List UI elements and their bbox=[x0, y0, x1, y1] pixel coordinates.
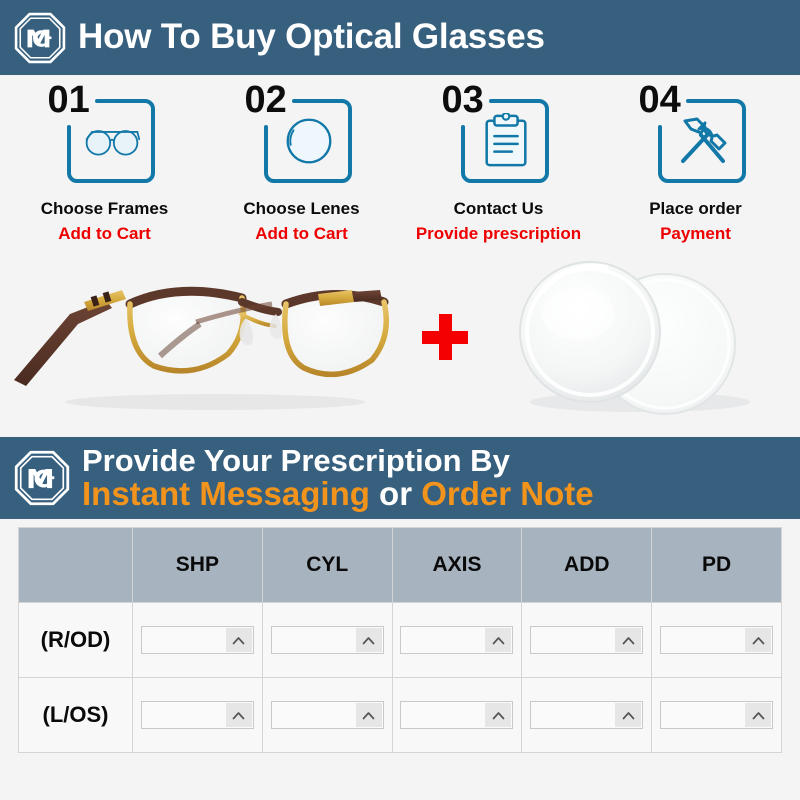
chevron-up-icon[interactable] bbox=[615, 703, 641, 727]
table-header-row: SHP CYL AXIS ADD PD bbox=[19, 528, 782, 603]
top-banner-title: How To Buy Optical Glasses bbox=[78, 19, 545, 56]
step-4-icon-wrap: 04 bbox=[644, 87, 748, 183]
top-banner: How To Buy Optical Glasses bbox=[0, 0, 800, 75]
select-right-pd[interactable] bbox=[660, 626, 773, 654]
select-left-pd[interactable] bbox=[660, 701, 773, 729]
brand-logo-icon-2 bbox=[14, 450, 70, 506]
clipboard-icon bbox=[477, 113, 535, 169]
table-row-right-eye: (R/OD) bbox=[19, 603, 782, 678]
eyeglasses-icon bbox=[83, 113, 141, 169]
eyeglasses-product-image bbox=[0, 252, 410, 427]
chevron-up-icon[interactable] bbox=[356, 703, 382, 727]
step-3: 03 Contact Us Provide prescription bbox=[400, 87, 597, 244]
cell-right-cyl bbox=[262, 603, 392, 678]
bottom-banner-text: Provide Your Prescription By Instant Mes… bbox=[82, 445, 594, 510]
step-3-number: 03 bbox=[439, 81, 487, 119]
header-pd: PD bbox=[652, 528, 782, 603]
step-4-number: 04 bbox=[636, 81, 684, 119]
chevron-up-icon[interactable] bbox=[485, 703, 511, 727]
bottom-banner-line2: Instant Messaging or Order Note bbox=[82, 477, 594, 511]
chevron-up-icon[interactable] bbox=[745, 703, 771, 727]
row-label-right-eye: (R/OD) bbox=[19, 603, 133, 678]
chevron-up-icon[interactable] bbox=[485, 628, 511, 652]
chevron-up-icon[interactable] bbox=[226, 628, 252, 652]
table-row-left-eye: (L/OS) bbox=[19, 678, 782, 753]
cell-left-axis bbox=[392, 678, 522, 753]
select-left-shp[interactable] bbox=[141, 701, 254, 729]
select-left-axis[interactable] bbox=[400, 701, 513, 729]
row-label-left-eye: (L/OS) bbox=[19, 678, 133, 753]
step-3-icon-wrap: 03 bbox=[447, 87, 551, 183]
plus-separator bbox=[410, 314, 480, 365]
cell-left-pd bbox=[652, 678, 782, 753]
select-left-cyl[interactable] bbox=[271, 701, 384, 729]
steps-row: 01 Choose Frames Add to Cart 02 bbox=[0, 87, 800, 244]
step-2: 02 Choose Lenes Add to Cart bbox=[203, 87, 400, 244]
header-corner bbox=[19, 528, 133, 603]
step-4-sub: Payment bbox=[597, 224, 794, 244]
select-right-axis[interactable] bbox=[400, 626, 513, 654]
step-2-sub: Add to Cart bbox=[203, 224, 400, 244]
chevron-up-icon[interactable] bbox=[745, 628, 771, 652]
cell-left-add bbox=[522, 678, 652, 753]
step-3-sub: Provide prescription bbox=[400, 224, 597, 244]
lenses-product-image bbox=[480, 252, 800, 427]
product-row bbox=[0, 252, 800, 427]
select-left-add[interactable] bbox=[530, 701, 643, 729]
select-right-shp[interactable] bbox=[141, 626, 254, 654]
select-right-cyl[interactable] bbox=[271, 626, 384, 654]
infographic-page: How To Buy Optical Glasses 01 Choose Fra… bbox=[0, 0, 800, 800]
step-4-label: Place order bbox=[597, 199, 794, 219]
step-2-number: 02 bbox=[242, 81, 290, 119]
instant-messaging-text: Instant Messaging bbox=[82, 475, 370, 512]
cell-right-axis bbox=[392, 603, 522, 678]
header-shp: SHP bbox=[133, 528, 263, 603]
step-1-sub: Add to Cart bbox=[6, 224, 203, 244]
prescription-table: SHP CYL AXIS ADD PD (R/OD) bbox=[18, 527, 782, 753]
joiner-text: or bbox=[370, 475, 421, 512]
select-right-add[interactable] bbox=[530, 626, 643, 654]
order-note-text: Order Note bbox=[421, 475, 593, 512]
cell-left-cyl bbox=[262, 678, 392, 753]
chevron-up-icon[interactable] bbox=[226, 703, 252, 727]
header-add: ADD bbox=[522, 528, 652, 603]
bottom-banner-line1: Provide Your Prescription By bbox=[82, 445, 594, 477]
step-1-icon-wrap: 01 bbox=[53, 87, 157, 183]
step-3-label: Contact Us bbox=[400, 199, 597, 219]
cell-right-shp bbox=[133, 603, 263, 678]
hammer-wrench-icon bbox=[674, 113, 732, 169]
bottom-banner: Provide Your Prescription By Instant Mes… bbox=[0, 437, 800, 519]
cell-left-shp bbox=[133, 678, 263, 753]
header-axis: AXIS bbox=[392, 528, 522, 603]
brand-logo-icon bbox=[14, 12, 66, 64]
cell-right-add bbox=[522, 603, 652, 678]
step-1: 01 Choose Frames Add to Cart bbox=[6, 87, 203, 244]
lens-circle-icon bbox=[280, 113, 338, 169]
step-1-number: 01 bbox=[45, 81, 93, 119]
cell-right-pd bbox=[652, 603, 782, 678]
plus-icon bbox=[422, 314, 468, 360]
step-2-label: Choose Lenes bbox=[203, 199, 400, 219]
header-cyl: CYL bbox=[262, 528, 392, 603]
step-1-label: Choose Frames bbox=[6, 199, 203, 219]
step-2-icon-wrap: 02 bbox=[250, 87, 354, 183]
chevron-up-icon[interactable] bbox=[356, 628, 382, 652]
step-4: 04 Place order Payment bbox=[597, 87, 794, 244]
chevron-up-icon[interactable] bbox=[615, 628, 641, 652]
